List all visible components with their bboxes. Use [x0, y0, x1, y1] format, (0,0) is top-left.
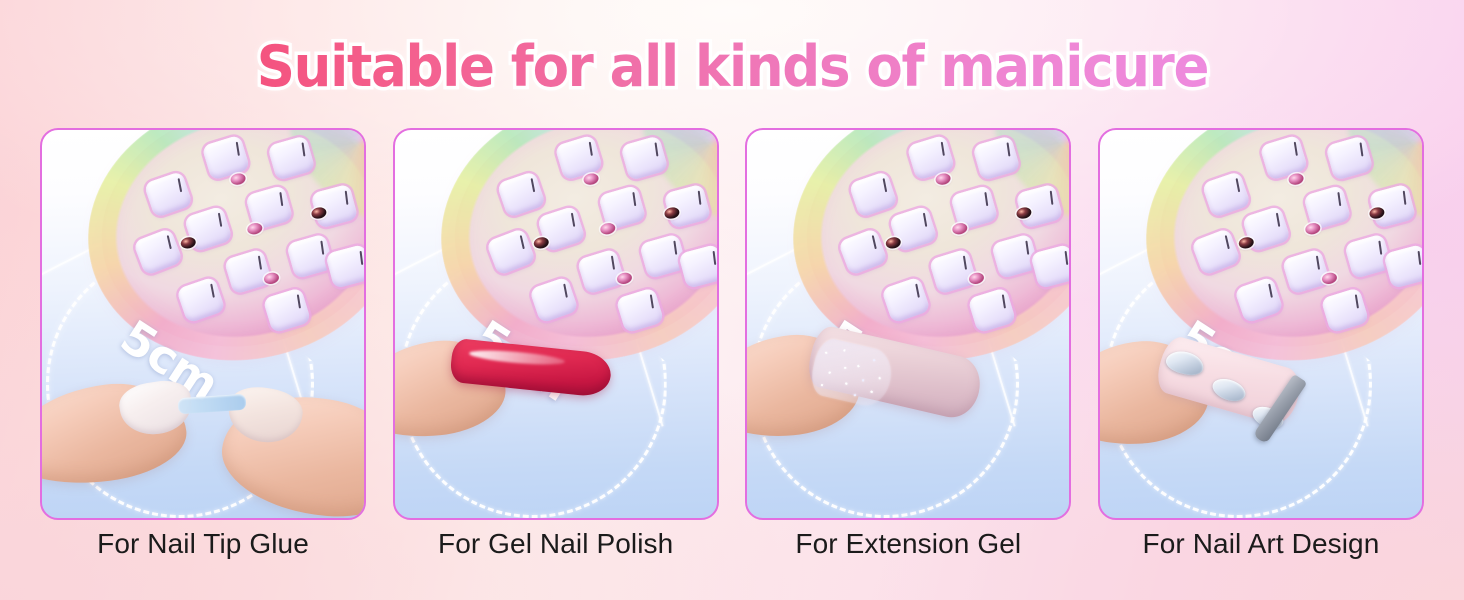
caption-gel-nail-polish: For Gel Nail Polish	[393, 528, 719, 560]
caption-extension-gel: For Extension Gel	[745, 528, 1071, 560]
feature-card-gel-nail-polish[interactable]: 5cm	[393, 128, 719, 520]
page-title-fill: Suitable for all kinds of manicure	[256, 34, 1207, 100]
promo-banner: Suitable for all kinds of manicure Suita…	[0, 0, 1464, 600]
feature-card-extension-gel[interactable]: 5cm	[745, 128, 1071, 520]
feature-card-row: 5cm	[40, 128, 1424, 520]
feature-card-nail-art-design[interactable]: 5cm	[1098, 128, 1424, 520]
feature-card-nail-tip-glue[interactable]: 5cm	[40, 128, 366, 520]
headline-container: Suitable for all kinds of manicure Suita…	[0, 38, 1464, 98]
caption-nail-tip-glue: For Nail Tip Glue	[40, 528, 366, 560]
page-title: Suitable for all kinds of manicure Suita…	[256, 38, 1207, 98]
caption-row: For Nail Tip Glue For Gel Nail Polish Fo…	[40, 528, 1424, 560]
caption-nail-art-design: For Nail Art Design	[1098, 528, 1424, 560]
